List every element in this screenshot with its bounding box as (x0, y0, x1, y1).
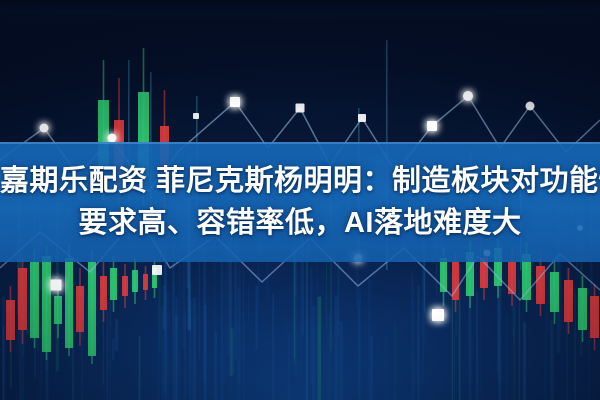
headline-band (0, 142, 600, 262)
headline-line-2: 要求高、容错率低，AI落地难度大 (0, 205, 600, 241)
headline-line-1: 嘉期乐配资 菲尼克斯杨明明：制造板块对功能性能 (0, 163, 600, 199)
band-top-highlight (0, 142, 600, 144)
news-banner: 嘉期乐配资 菲尼克斯杨明明：制造板块对功能性能 要求高、容错率低，AI落地难度大 (0, 0, 600, 400)
